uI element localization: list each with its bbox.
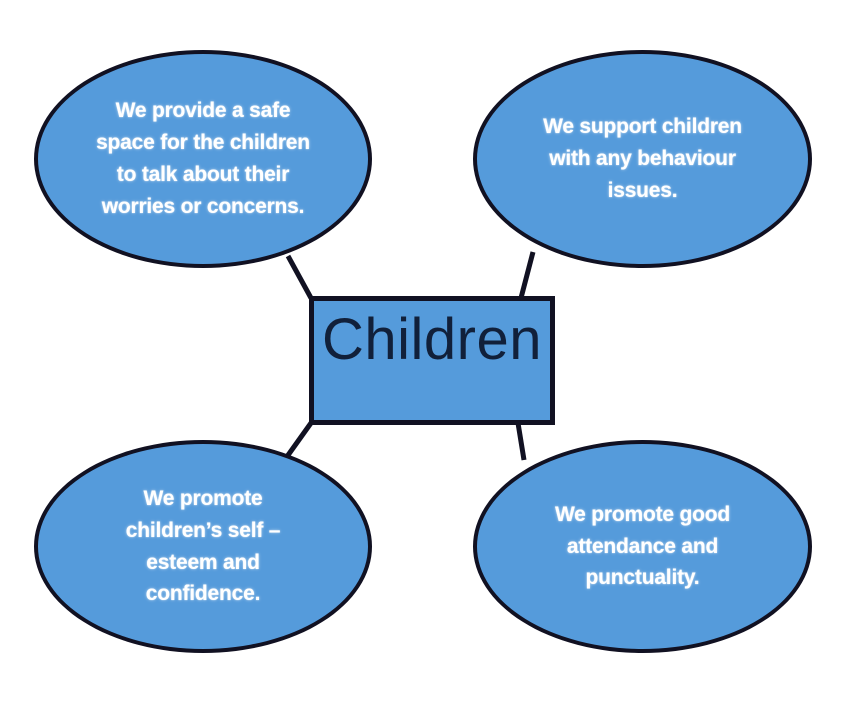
node-label-bottom-right: We promote good attendance and punctuali… <box>529 499 756 595</box>
node-ellipse-top-left: We provide a safe space for the children… <box>34 50 372 268</box>
connector-bottom-right-to-center <box>518 423 524 460</box>
connector-top-left-to-center <box>288 256 311 298</box>
node-center-children: Children <box>309 296 555 425</box>
connector-bottom-left-to-center <box>286 423 311 458</box>
node-ellipse-top-right: We support children with any behaviour i… <box>473 50 812 268</box>
diagram-canvas: We provide a safe space for the children… <box>0 0 846 705</box>
node-ellipse-bottom-left: We promote children’s self – esteem and … <box>34 440 372 653</box>
node-label-center: Children <box>322 301 542 369</box>
connector-top-right-to-center <box>521 252 533 298</box>
node-label-bottom-left: We promote children’s self – esteem and … <box>100 483 307 611</box>
node-label-top-right: We support children with any behaviour i… <box>517 111 768 207</box>
node-label-top-left: We provide a safe space for the children… <box>70 95 336 223</box>
node-ellipse-bottom-right: We promote good attendance and punctuali… <box>473 440 812 653</box>
